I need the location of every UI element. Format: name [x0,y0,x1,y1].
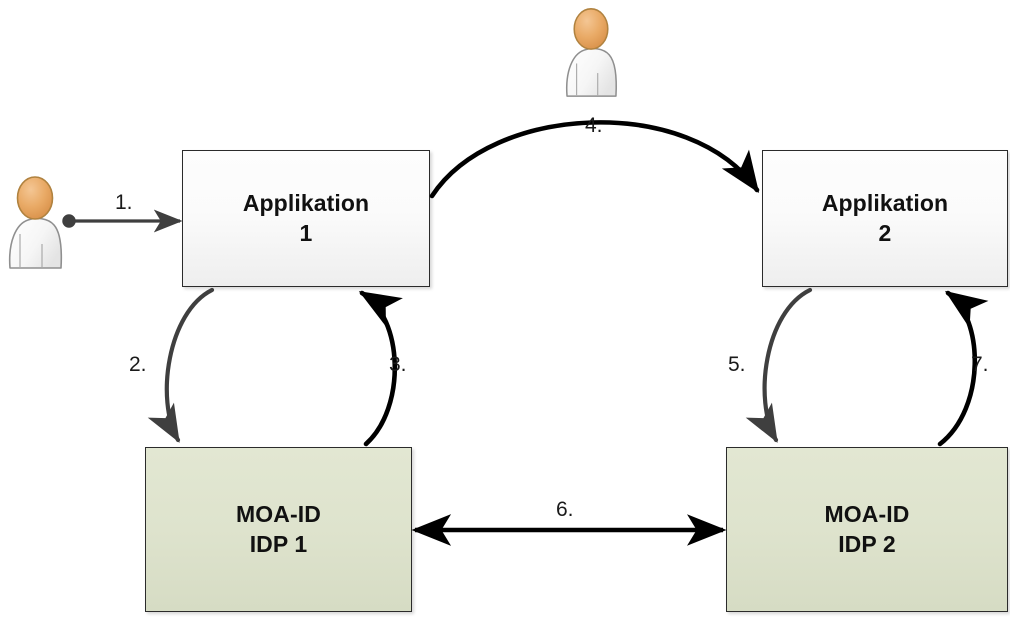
arrow-layer [0,0,1010,618]
step-label-6: 6. [556,498,574,522]
step-label-2: 2. [129,353,147,377]
step-label-4: 4. [585,114,603,138]
step-label-1: 1. [115,191,133,215]
arrow-step-5 [765,290,810,440]
diagram-canvas: Applikation 1 Applikation 2 MOA-ID IDP 1… [0,0,1010,618]
step-label-3: 3. [389,353,407,377]
arrow-step-2 [167,290,212,440]
step-label-5: 5. [728,353,746,377]
arrow-step-7 [940,293,975,444]
step-label-7: 7. [971,353,989,377]
